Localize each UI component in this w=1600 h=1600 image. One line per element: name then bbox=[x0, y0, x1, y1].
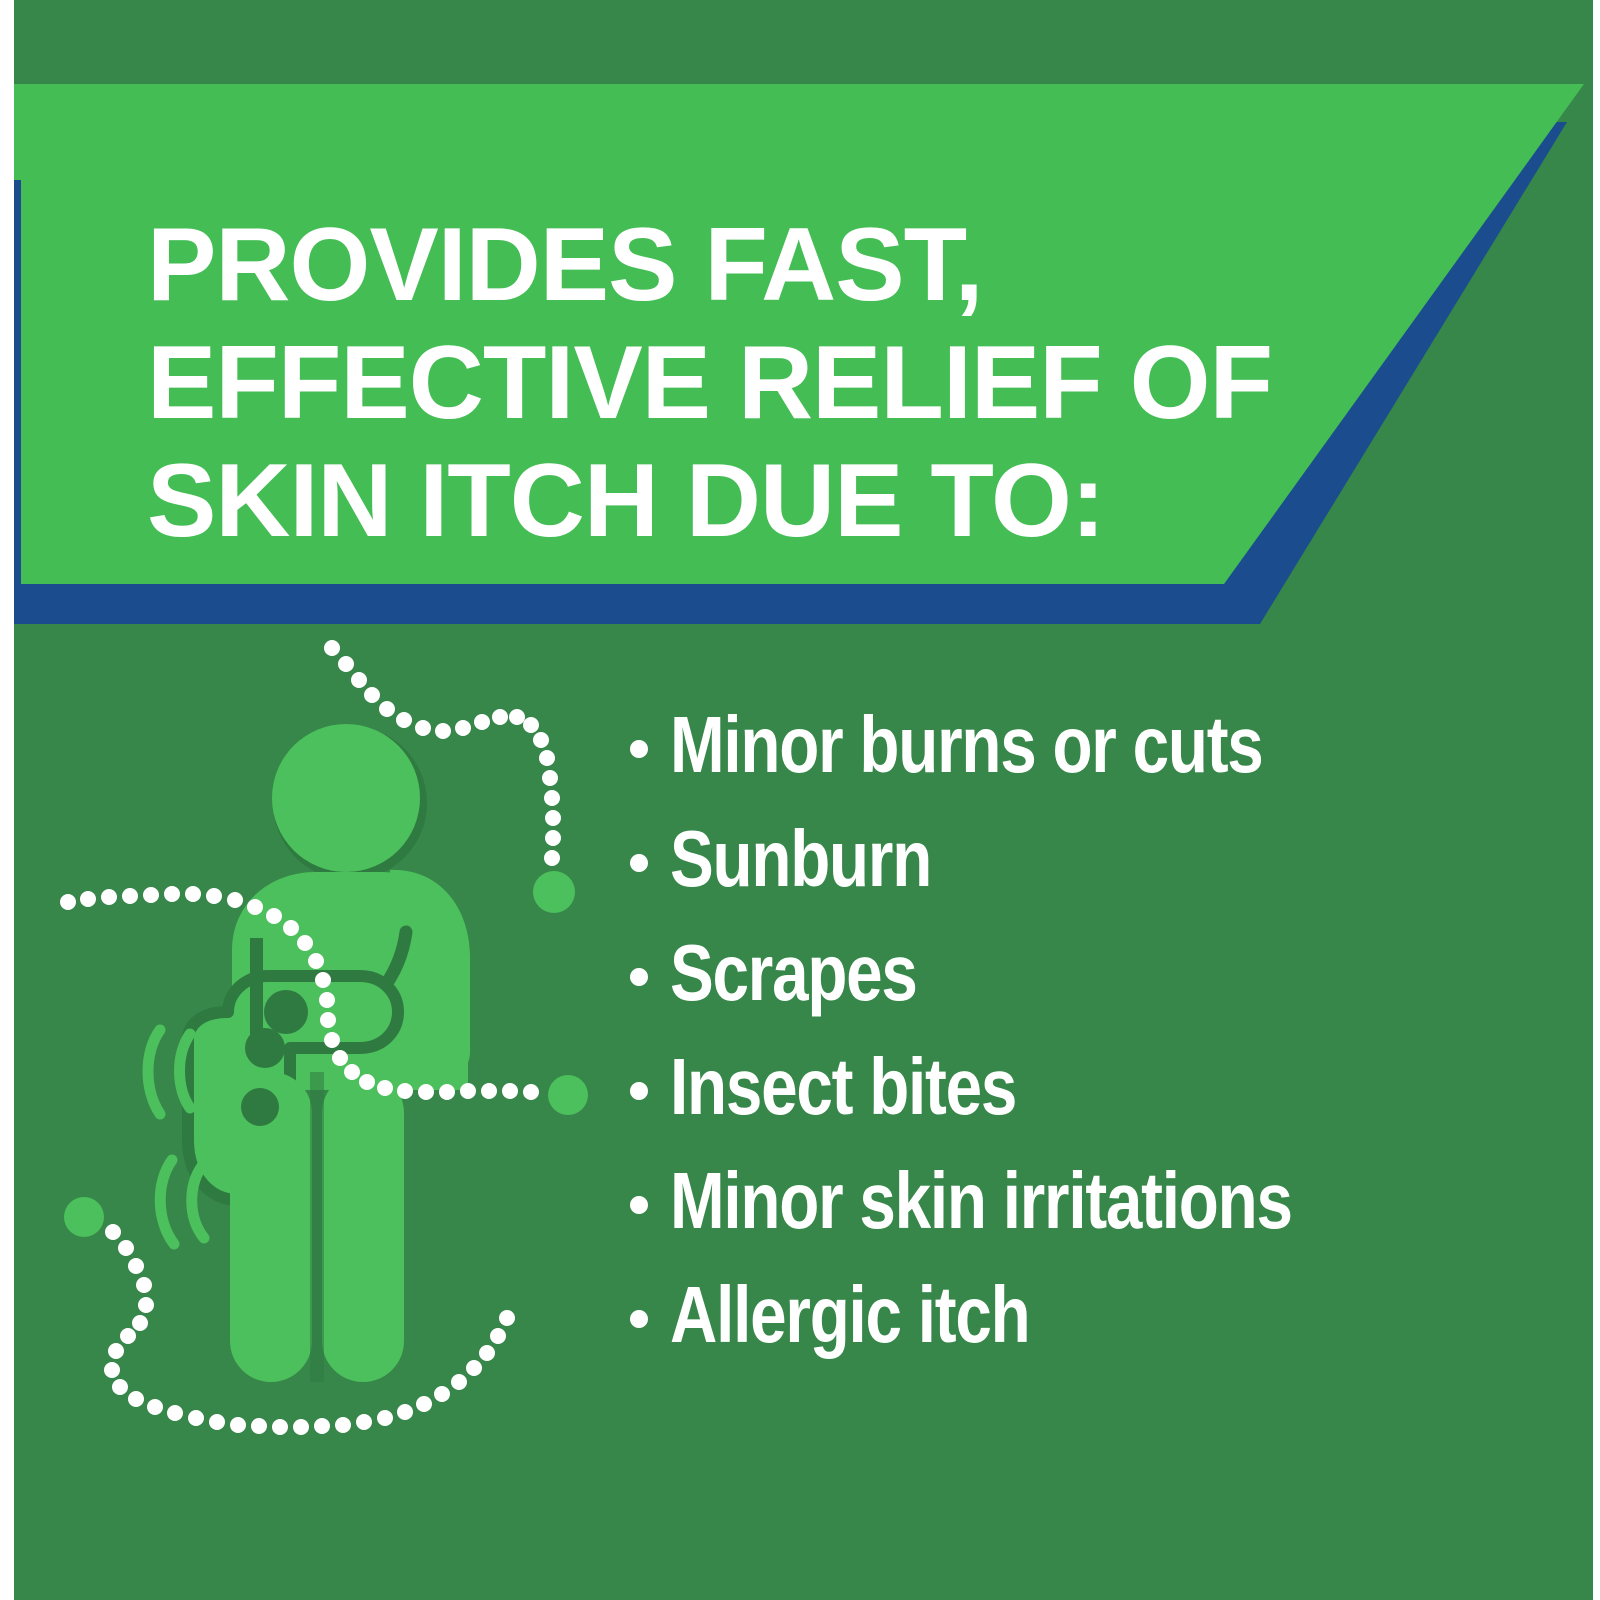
list-item-label: Minor skin irritations bbox=[670, 1156, 1292, 1246]
list-item-label: Minor burns or cuts bbox=[670, 700, 1263, 790]
list-item-label: Scrapes bbox=[670, 928, 917, 1018]
headline-banner: PROVIDES FAST, EFFECTIVE RELIEF OF SKIN … bbox=[0, 84, 1600, 624]
benefits-list: Minor burns or cuts Sunburn Scrapes Inse… bbox=[630, 700, 1580, 1384]
list-item: Minor burns or cuts bbox=[630, 700, 1580, 790]
list-item: Minor skin irritations bbox=[630, 1156, 1580, 1246]
bullet-dot-icon bbox=[630, 968, 648, 986]
list-item-label: Insect bites bbox=[670, 1042, 1016, 1132]
dotted-path-end-dot-middle bbox=[548, 1075, 588, 1115]
bullet-dot-icon bbox=[630, 1082, 648, 1100]
page-title: PROVIDES FAST, EFFECTIVE RELIEF OF SKIN … bbox=[147, 206, 1377, 560]
bullet-dot-icon bbox=[630, 854, 648, 872]
poster-canvas: PROVIDES FAST, EFFECTIVE RELIEF OF SKIN … bbox=[0, 0, 1600, 1600]
bullet-dot-icon bbox=[630, 1310, 648, 1328]
scratch-motion-arcs-lower bbox=[160, 1160, 204, 1244]
dotted-path-start-dot-bottom bbox=[64, 1197, 104, 1237]
list-item: Allergic itch bbox=[630, 1270, 1580, 1360]
head-circle bbox=[272, 724, 420, 872]
list-item-label: Sunburn bbox=[670, 814, 931, 904]
list-item: Scrapes bbox=[630, 928, 1580, 1018]
person-scratching-itchy-arm-icon bbox=[60, 620, 640, 1440]
banner-left-blue-rule bbox=[14, 180, 21, 624]
dotted-path-end-dot-top bbox=[533, 871, 575, 913]
leg-separator-shadow bbox=[310, 1072, 324, 1382]
list-item: Sunburn bbox=[630, 814, 1580, 904]
list-item-label: Allergic itch bbox=[670, 1270, 1029, 1360]
bullet-dot-icon bbox=[630, 1196, 648, 1214]
scratch-motion-arcs-upper bbox=[148, 1030, 190, 1114]
torso-center-line bbox=[250, 938, 263, 1038]
list-item: Insect bites bbox=[630, 1042, 1580, 1132]
right-leg bbox=[322, 1072, 404, 1382]
bullet-dot-icon bbox=[630, 740, 648, 758]
